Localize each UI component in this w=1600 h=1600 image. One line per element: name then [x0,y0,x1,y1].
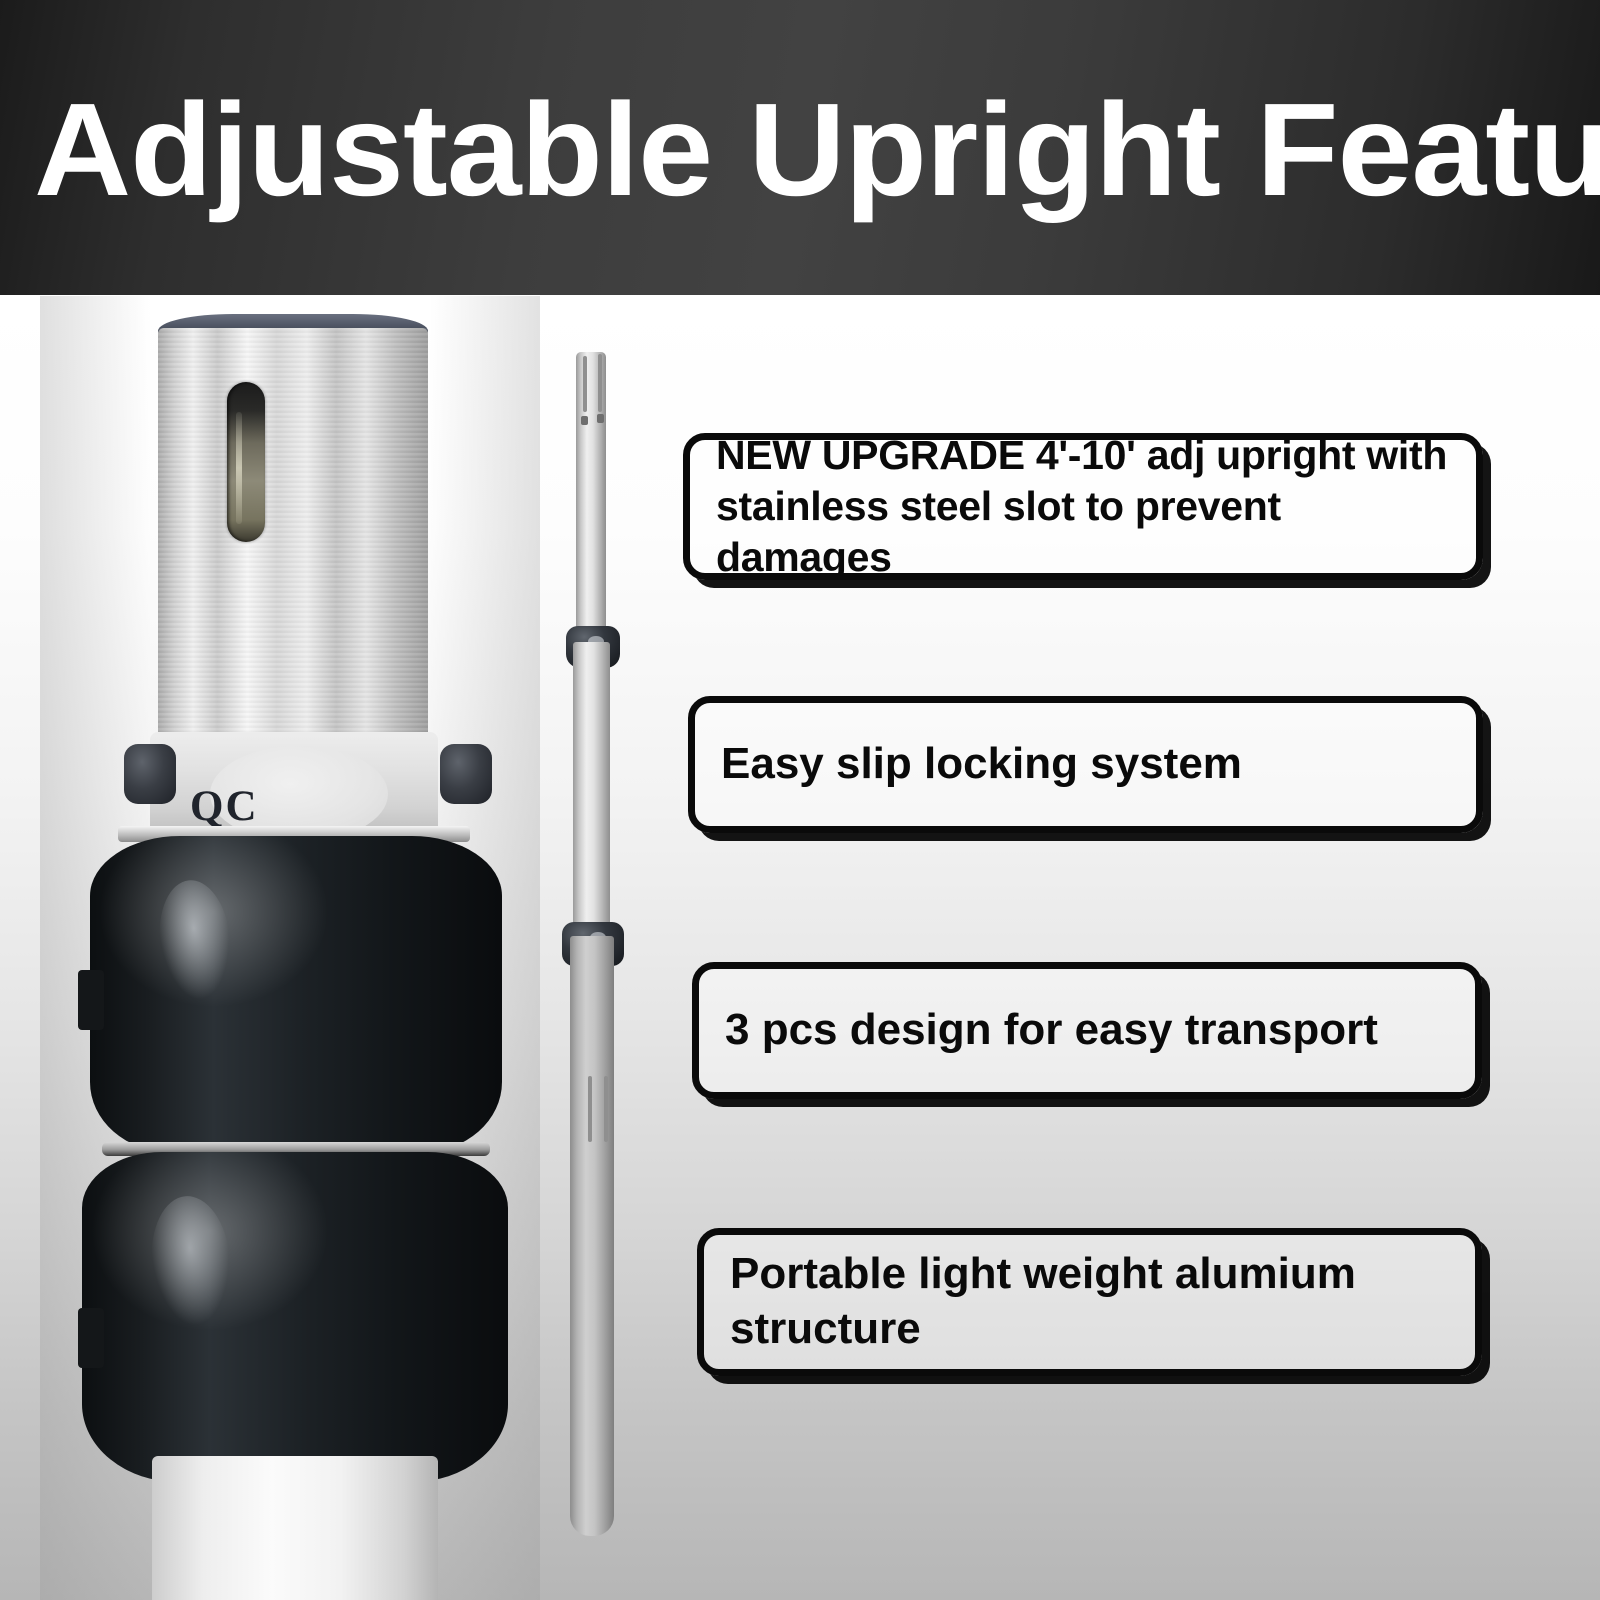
pole-segment-middle [573,642,610,948]
pole-top-slot-right [598,354,602,412]
pole-segment-bottom [570,936,614,1536]
callout-1-label: NEW UPGRADE 4'-10' adj upright with stai… [690,430,1476,582]
callout-3-label: 3 pcs design for easy transport [699,1003,1404,1058]
black-rubber-bulb-upper [90,836,502,1152]
callout-4-label: Portable light weight alumium structure [704,1247,1475,1356]
pole-lower-slot-right [604,1076,608,1142]
page-title: Adjustable Upright Feature [34,84,1600,216]
callout-box-3: 3 pcs design for easy transport [692,962,1482,1099]
callout-box-1: NEW UPGRADE 4'-10' adj upright with stai… [683,433,1483,580]
callout-box-4: Portable light weight alumium structure [697,1228,1482,1376]
spring-clip-upper-shadow [78,970,104,1030]
pole-pin-left-icon [581,416,588,425]
telescoping-upright-pole [540,296,660,1600]
pole-top-slot-left [583,356,587,412]
collar-knob-right-icon [440,744,492,804]
chrome-grain-texture [158,328,428,740]
callout-box-2: Easy slip locking system [688,696,1483,833]
stainless-steel-tube [158,328,428,740]
header-banner: Adjustable Upright Feature [0,0,1600,295]
black-rubber-bulb-lower [82,1152,508,1482]
qc-stamp-label: QC [190,782,310,831]
pole-lower-slot-left [588,1076,592,1142]
callout-2-label: Easy slip locking system [695,737,1268,792]
collar-knob-left-icon [124,744,176,804]
product-closeup-photo: QC [40,296,540,1600]
infographic-page: Adjustable Upright Feature QC [0,0,1600,1600]
stainless-steel-slot [227,382,265,542]
spring-clip-lower-shadow [78,1308,104,1368]
pole-pin-right-icon [597,414,604,423]
aluminum-lower-tube [152,1456,438,1600]
slot-highlight [236,412,242,524]
